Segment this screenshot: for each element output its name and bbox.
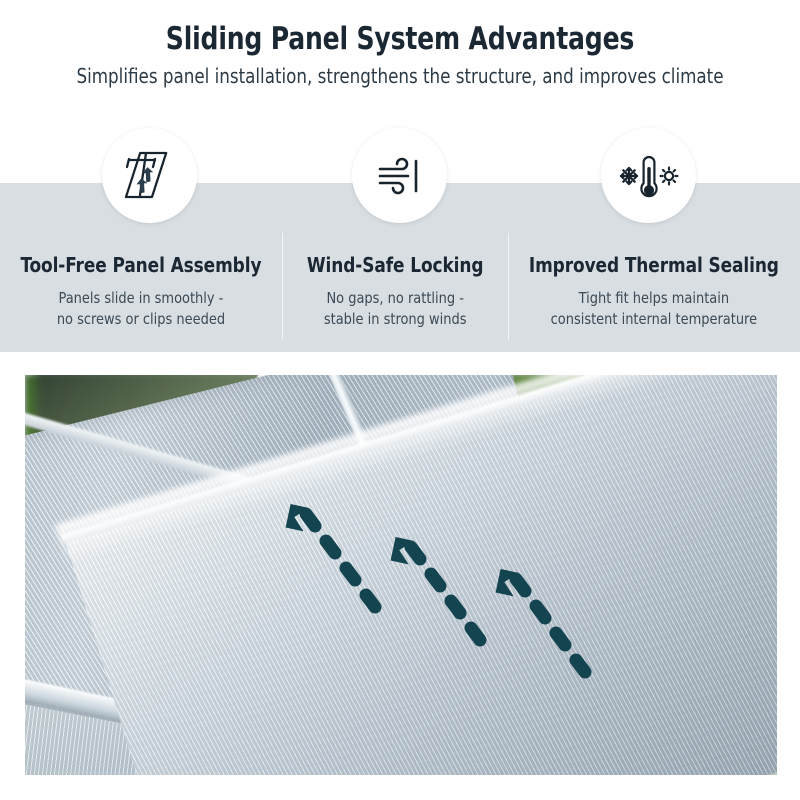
header-section: Sliding Panel System Advantages Simplifi… bbox=[0, 0, 800, 88]
feature-description-line: Panels slide in smoothly - bbox=[17, 288, 266, 309]
feature-description-line: stable in strong winds bbox=[297, 309, 493, 330]
feature-description: No gaps, no rattling - stable in strong … bbox=[297, 288, 493, 330]
page-subtitle: Simplifies panel installation, strengthe… bbox=[28, 64, 772, 88]
direction-arrow bbox=[276, 497, 375, 607]
thermometer-snowflake-sun-icon bbox=[618, 147, 680, 205]
feature-description-line: Tight fit helps maintain bbox=[525, 288, 783, 309]
feature-description-line: no screws or clips needed bbox=[17, 309, 266, 330]
product-photo bbox=[25, 375, 777, 775]
feature-icon-badge-tool-free-panel-assembly bbox=[102, 128, 197, 223]
feature-description: Tight fit helps maintain consistent inte… bbox=[525, 288, 783, 330]
feature-title: Tool-Free Panel Assembly bbox=[20, 253, 261, 277]
feature-title: Improved Thermal Sealing bbox=[529, 253, 779, 277]
feature-description-line: No gaps, no rattling - bbox=[297, 288, 493, 309]
wind-post-icon bbox=[372, 148, 428, 204]
direction-arrow bbox=[486, 562, 585, 672]
feature-icon-badge-wind-safe-locking bbox=[352, 128, 447, 223]
feature-title: Wind-Safe Locking bbox=[300, 253, 490, 277]
direction-arrow bbox=[381, 530, 480, 640]
sliding-panel-rail-icon bbox=[121, 147, 179, 205]
feature-description-line: consistent internal temperature bbox=[525, 309, 783, 330]
feature-icon-badge-improved-thermal-sealing bbox=[601, 128, 696, 223]
feature-description: Panels slide in smoothly - no screws or … bbox=[17, 288, 266, 330]
page-title: Sliding Panel System Advantages bbox=[40, 22, 760, 57]
photo-arrow-overlay bbox=[25, 375, 777, 775]
